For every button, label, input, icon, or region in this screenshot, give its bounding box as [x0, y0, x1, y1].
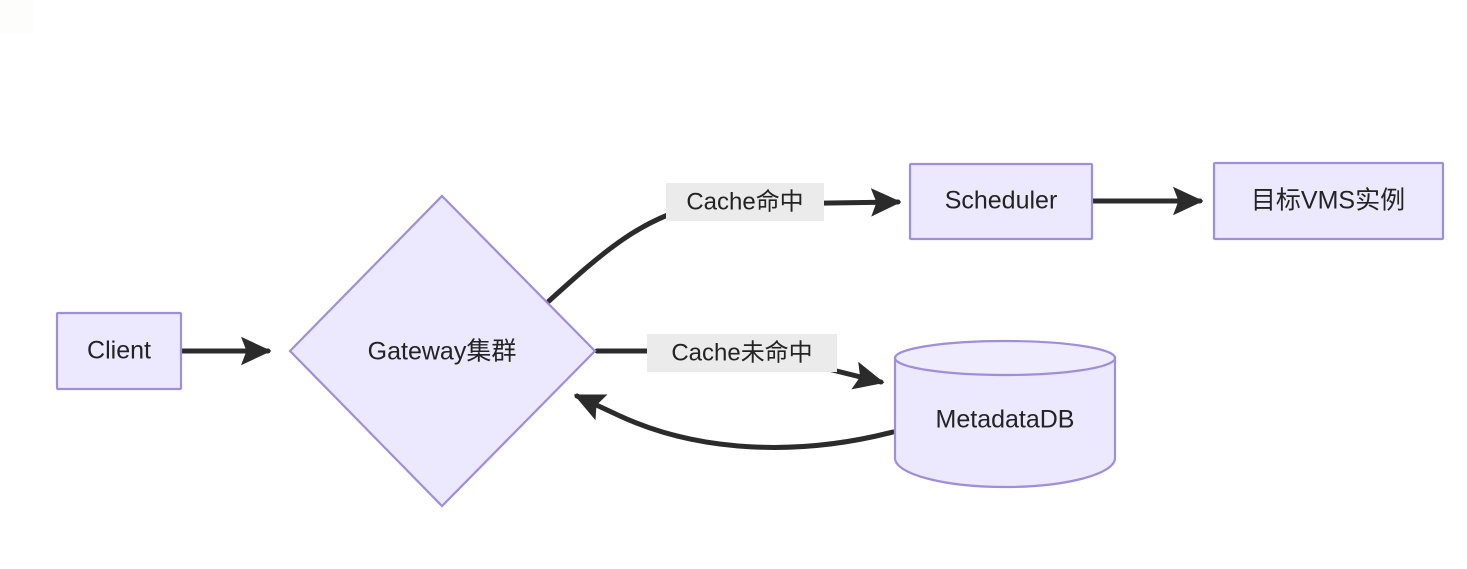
- node-gateway[interactable]: Gateway集群: [290, 196, 595, 506]
- node-client[interactable]: Client: [57, 313, 181, 389]
- metadatadb-top: [895, 341, 1115, 375]
- node-target-vms[interactable]: 目标VMS实例: [1214, 163, 1443, 239]
- client-label: Client: [87, 337, 151, 365]
- gateway-label: Gateway集群: [368, 338, 517, 366]
- edge-label-cache-miss: Cache未命中: [647, 334, 837, 372]
- target-vms-label: 目标VMS实例: [1251, 187, 1405, 215]
- cache-hit-label: Cache命中: [686, 188, 803, 215]
- canvas-corner-tint: [0, 0, 33, 33]
- node-metadatadb[interactable]: MetadataDB: [895, 341, 1115, 487]
- diagram-canvas: Client Gateway集群 Scheduler 目标VMS实例 Metad…: [0, 0, 1467, 569]
- scheduler-label: Scheduler: [945, 187, 1058, 215]
- cache-miss-label: Cache未命中: [671, 339, 812, 366]
- metadatadb-label: MetadataDB: [936, 406, 1075, 434]
- edge-metadatadb-to-gateway: [577, 396, 893, 447]
- node-scheduler[interactable]: Scheduler: [910, 164, 1092, 239]
- edge-label-cache-hit: Cache命中: [666, 183, 824, 221]
- flow-diagram: Client Gateway集群 Scheduler 目标VMS实例 Metad…: [0, 0, 1467, 569]
